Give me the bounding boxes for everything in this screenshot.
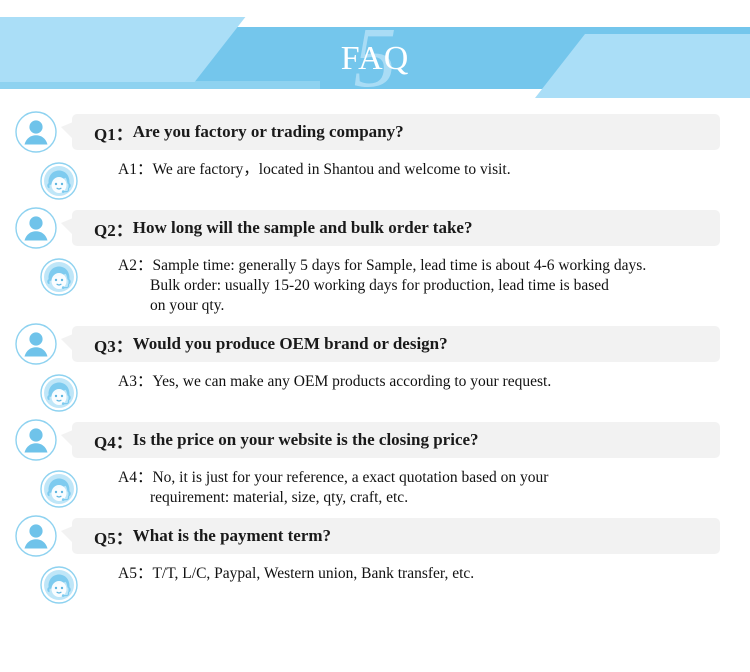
faq-item: Q5： What is the payment term? (0, 516, 750, 604)
answer-row: A1：We are factory，located in Shantou and… (0, 152, 750, 200)
user-avatar-icon (15, 515, 57, 557)
question-label: Q2： (94, 216, 133, 241)
support-agent-avatar-icon (40, 162, 78, 200)
question-row[interactable]: Q3： Would you produce OEM brand or desig… (0, 324, 750, 364)
answer-label: A5： (118, 565, 152, 582)
question-text: Is the price on your website is the clos… (133, 430, 479, 450)
user-avatar-icon (15, 419, 57, 461)
page-title: FAQ (0, 42, 750, 76)
faq-list: Q1： Are you factory or trading company? (0, 112, 750, 604)
answer-row: A3：Yes, we can make any OEM products acc… (0, 364, 750, 412)
faq-item: Q3： Would you produce OEM brand or desig… (0, 324, 750, 412)
answer-text: A3：Yes, we can make any OEM products acc… (118, 372, 750, 392)
question-row[interactable]: Q2： How long will the sample and bulk or… (0, 208, 750, 248)
page-banner: 5 FAQ (0, 0, 750, 112)
question-bubble: Q5： What is the payment term? (72, 518, 720, 554)
answer-label: A3： (118, 373, 152, 390)
question-label: Q4： (94, 428, 133, 453)
user-avatar-icon (15, 323, 57, 365)
answer-text: A5：T/T, L/C, Paypal, Western union, Bank… (118, 564, 750, 584)
answer-text: A2：Sample time: generally 5 days for Sam… (118, 256, 750, 316)
question-bubble: Q4： Is the price on your website is the … (72, 422, 720, 458)
answer-avatar-container (0, 564, 118, 604)
support-agent-avatar-icon (40, 258, 78, 296)
question-bubble: Q3： Would you produce OEM brand or desig… (72, 326, 720, 362)
answer-line: Sample time: generally 5 days for Sample… (152, 257, 646, 274)
answer-line: No, it is just for your reference, a exa… (152, 469, 548, 486)
question-text: How long will the sample and bulk order … (133, 218, 473, 238)
faq-item: Q4： Is the price on your website is the … (0, 420, 750, 508)
user-avatar-icon (15, 111, 57, 153)
question-text: Are you factory or trading company? (133, 122, 404, 142)
question-label: Q5： (94, 524, 133, 549)
question-label: Q3： (94, 332, 133, 357)
answer-line: T/T, L/C, Paypal, Western union, Bank tr… (152, 565, 474, 582)
spacer (0, 508, 750, 516)
answer-avatar-container (0, 256, 118, 296)
answer-label: A4： (118, 469, 152, 486)
answer-line: Yes, we can make any OEM products accord… (152, 373, 551, 390)
answer-label: A1： (118, 161, 152, 178)
answer-line: requirement: material, size, qty, craft,… (118, 488, 724, 508)
support-agent-avatar-icon (40, 470, 78, 508)
question-row[interactable]: Q5： What is the payment term? (0, 516, 750, 556)
question-row[interactable]: Q1： Are you factory or trading company? (0, 112, 750, 152)
answer-avatar-container (0, 160, 118, 200)
answer-line: Bulk order: usually 15-20 working days f… (118, 276, 724, 296)
question-text: Would you produce OEM brand or design? (133, 334, 448, 354)
spacer (0, 200, 750, 208)
spacer (0, 316, 750, 324)
answer-label: A2： (118, 257, 152, 274)
user-avatar-icon (15, 207, 57, 249)
answer-avatar-container (0, 372, 118, 412)
answer-row: A4：No, it is just for your reference, a … (0, 460, 750, 508)
answer-text: A1：We are factory，located in Shantou and… (118, 160, 750, 180)
answer-text: A4：No, it is just for your reference, a … (118, 468, 750, 508)
support-agent-avatar-icon (40, 566, 78, 604)
question-label: Q1： (94, 120, 133, 145)
answer-row: A5：T/T, L/C, Paypal, Western union, Bank… (0, 556, 750, 604)
answer-row: A2：Sample time: generally 5 days for Sam… (0, 248, 750, 316)
question-bubble: Q2： How long will the sample and bulk or… (72, 210, 720, 246)
answer-avatar-container (0, 468, 118, 508)
question-text: What is the payment term? (133, 526, 331, 546)
support-agent-avatar-icon (40, 374, 78, 412)
answer-line: We are factory，located in Shantou and we… (152, 161, 510, 178)
spacer (0, 412, 750, 420)
answer-line: on your qty. (118, 296, 724, 316)
faq-item: Q1： Are you factory or trading company? (0, 112, 750, 200)
faq-item: Q2： How long will the sample and bulk or… (0, 208, 750, 316)
question-bubble: Q1： Are you factory or trading company? (72, 114, 720, 150)
question-row[interactable]: Q4： Is the price on your website is the … (0, 420, 750, 460)
